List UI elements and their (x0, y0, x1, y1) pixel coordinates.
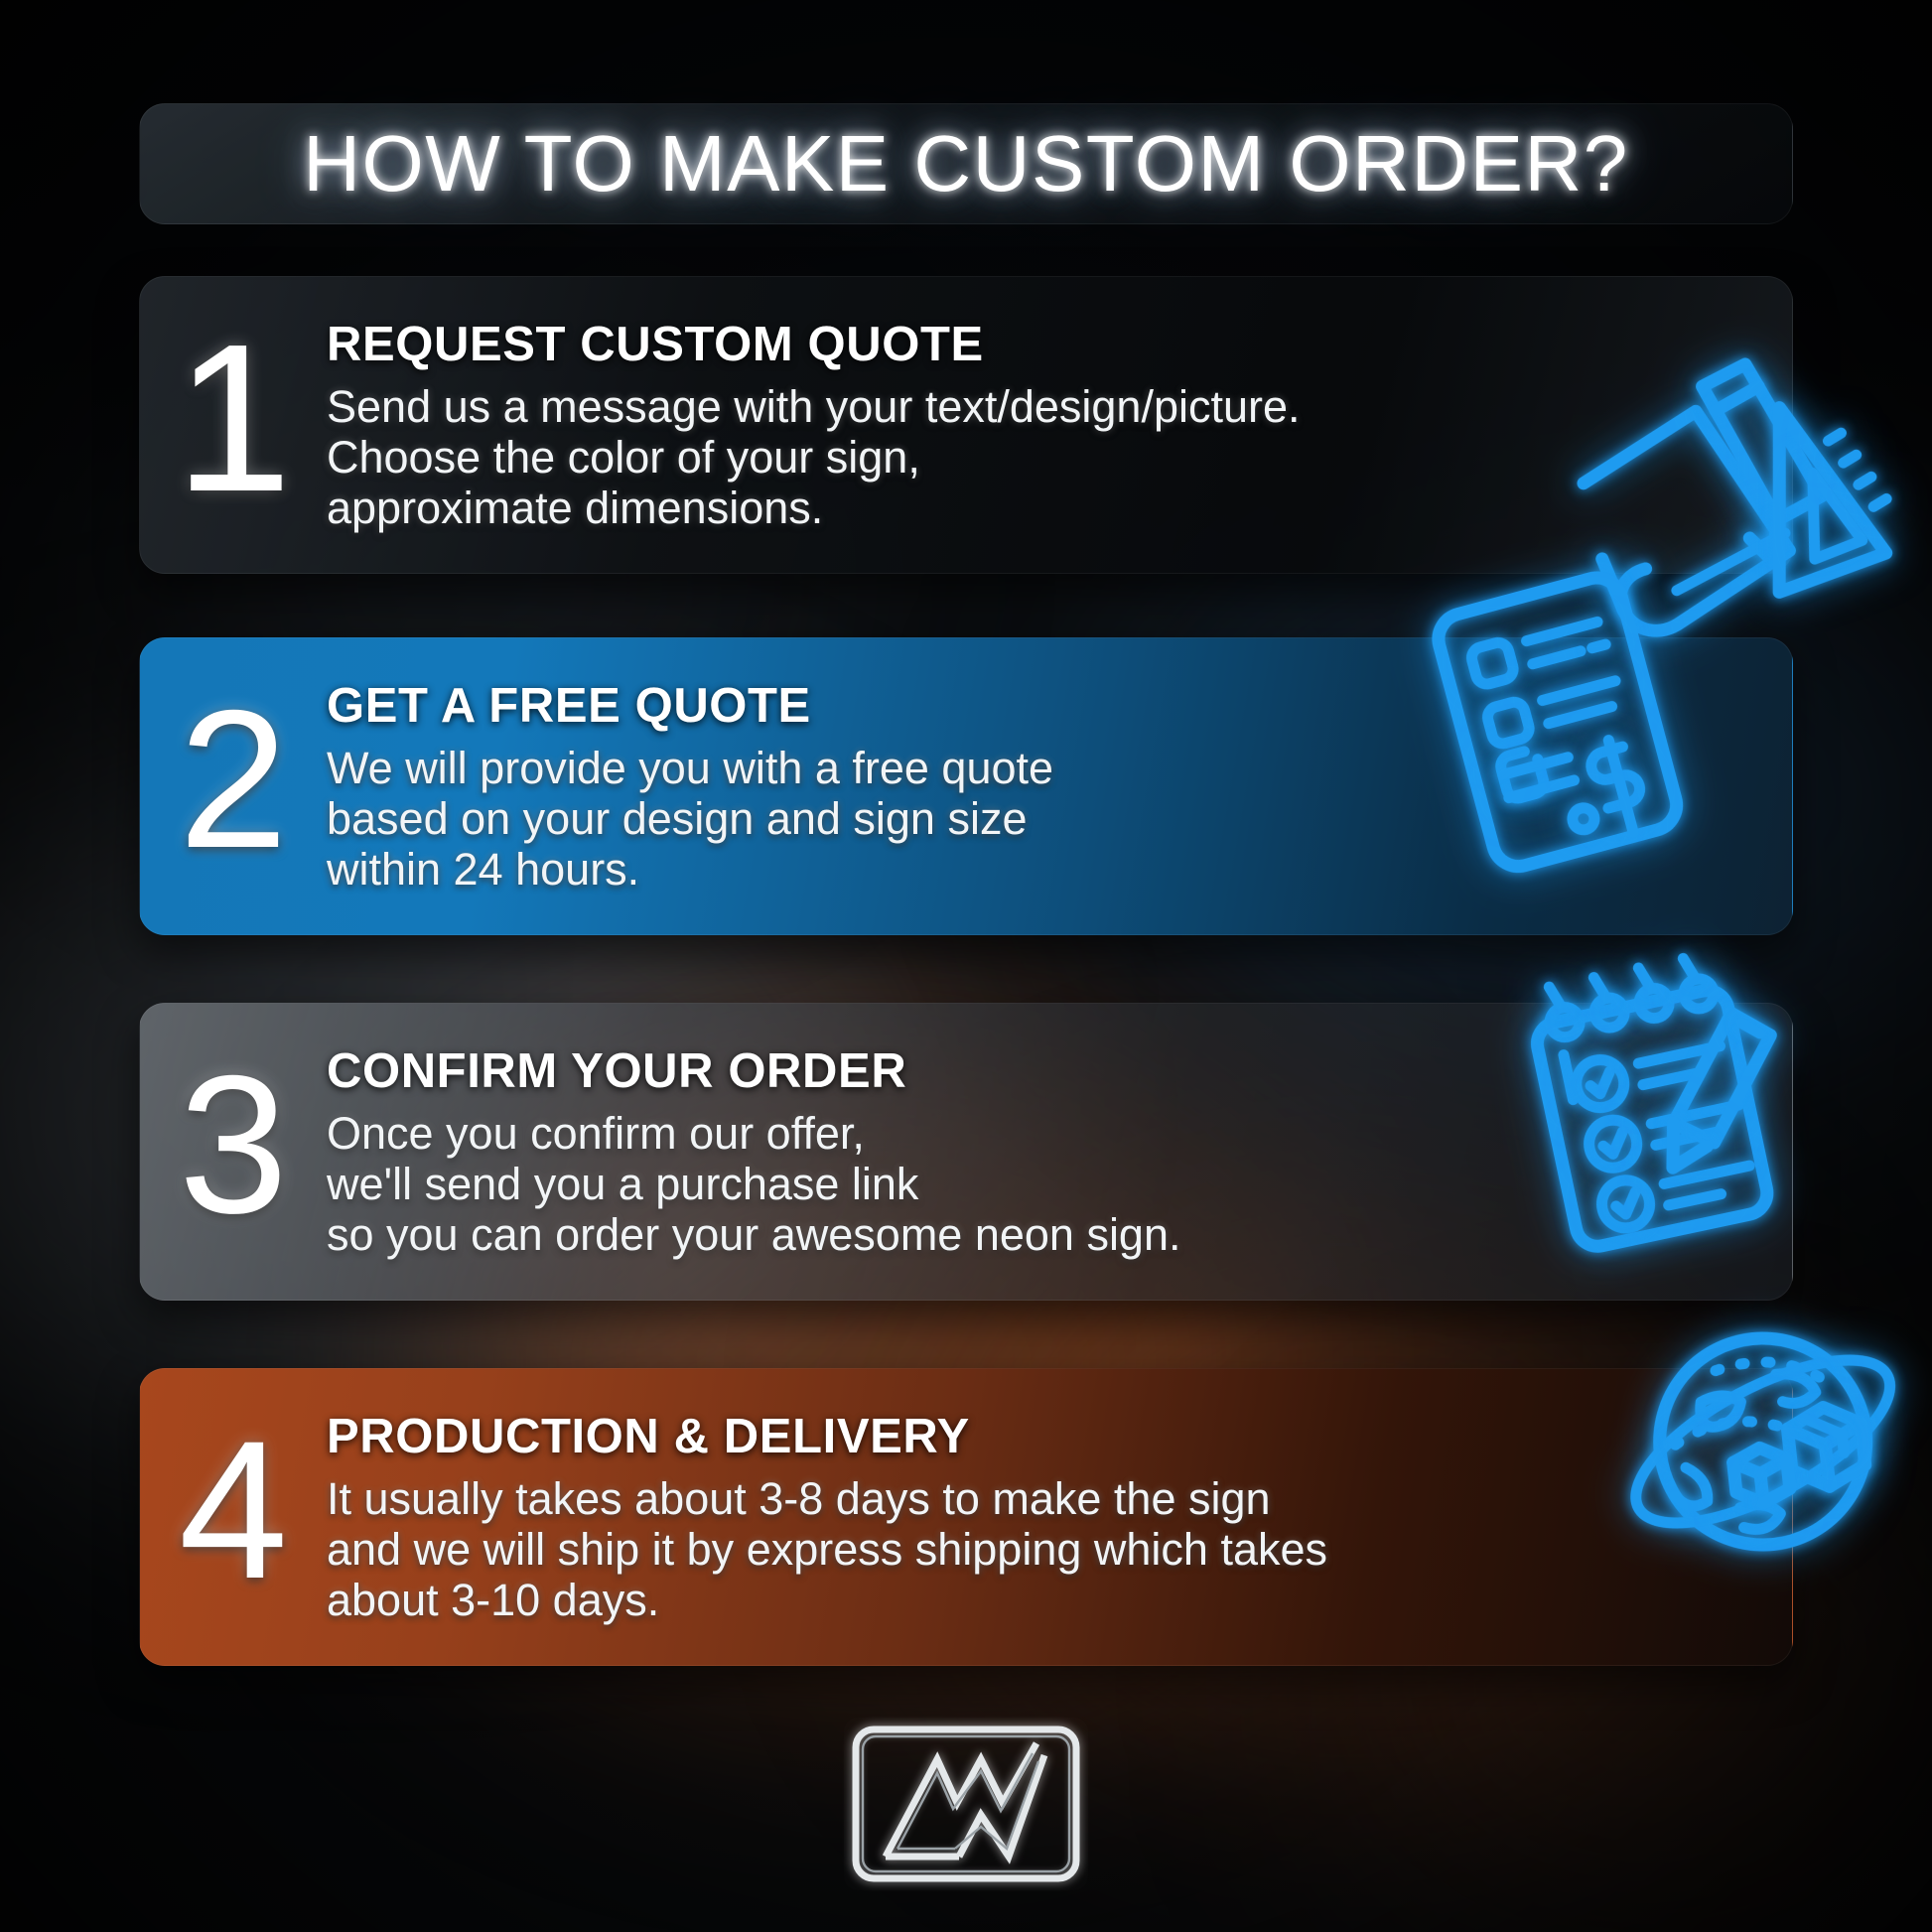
step-card-4: 4 PRODUCTION & DELIVERY It usually takes… (139, 1368, 1793, 1666)
step-body-2: We will provide you with a free quote ba… (327, 743, 1748, 896)
ln-neon-monogram-logo (842, 1716, 1090, 1892)
step-body-4: It usually takes about 3-8 days to make … (327, 1473, 1748, 1626)
step-number-1: 1 (140, 326, 327, 525)
page-title: HOW TO MAKE CUSTOM ORDER? (303, 118, 1628, 209)
step-number-2: 2 (140, 693, 327, 880)
step-number-4: 4 (140, 1424, 327, 1610)
step-card-3: 3 CONFIRM YOUR ORDER Once you confirm ou… (139, 1003, 1793, 1301)
step-body-3: Once you confirm our offer, we'll send y… (327, 1108, 1748, 1261)
step-heading-3: CONFIRM YOUR ORDER (327, 1043, 1748, 1099)
page-title-card: HOW TO MAKE CUSTOM ORDER? (139, 103, 1793, 224)
step-card-1: 1 REQUEST CUSTOM QUOTE Send us a message… (139, 276, 1793, 574)
step-heading-1: REQUEST CUSTOM QUOTE (327, 317, 1748, 372)
step-number-3: 3 (140, 1058, 327, 1245)
step-body-1: Send us a message with your text/design/… (327, 381, 1748, 534)
step-heading-4: PRODUCTION & DELIVERY (327, 1409, 1748, 1464)
step-card-2: 2 GET A FREE QUOTE We will provide you w… (139, 637, 1793, 935)
step-heading-2: GET A FREE QUOTE (327, 678, 1748, 734)
infographic-page: HOW TO MAKE CUSTOM ORDER? 1 REQUEST CUST… (0, 0, 1932, 1932)
